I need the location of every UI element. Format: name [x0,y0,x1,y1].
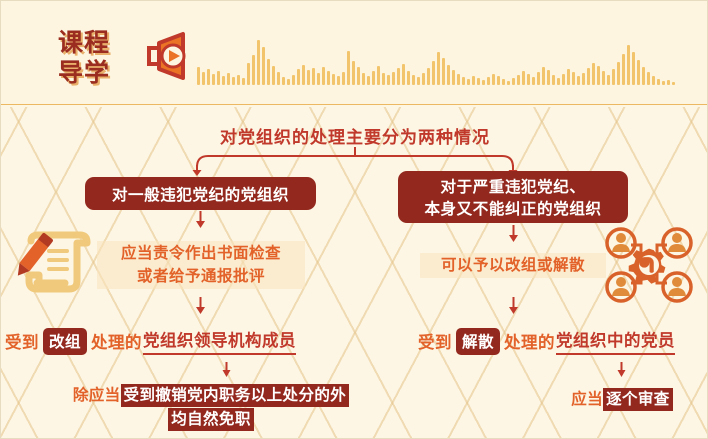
waveform-bar [632,52,635,85]
conclusion-general-prefix: 除应当 [73,386,121,404]
subject-prefix-serious: 受到 [418,329,452,353]
header-banner: 课程 导学 课程 导学 [1,1,708,105]
conclusion-general-highlight-1: 受到撤销党内职务以上处分的外 [121,384,350,407]
waveform-bar [462,77,465,85]
waveform-bar [622,54,625,85]
waveform-bar [402,64,405,85]
waveform-bar [407,71,410,85]
waveform-bar [572,72,575,85]
waveform-bar [197,67,200,85]
waveform-bar [322,67,325,85]
category-box-serious-line-1: 对于严重违犯党纪、 [441,176,586,198]
waveform-bar [507,81,510,85]
waveform-bar [252,55,255,85]
waveform-bar [392,72,395,85]
waveform-bar [372,71,375,85]
team-gear-reorganize-icon [601,223,697,305]
waveform-bar [602,71,605,85]
waveform-bar [257,40,260,85]
statement-general-line-2: 或者给予通报批评 [101,265,301,288]
waveform-bar [627,45,630,85]
waveform-bar [362,73,365,85]
waveform-bar [672,82,675,85]
subject-line-general: 受到 改组 处理的 党组织领导机构成员 [5,328,296,354]
conclusion-general: 除应当受到撤销党内职务以上处分的外 均自然免职 [71,383,351,431]
waveform-bar [617,62,620,85]
waveform-bar [227,73,230,85]
waveform-bar [447,65,450,85]
arrow-subject-to-conclusion-left [221,362,232,380]
waveform-bar [592,63,595,85]
header-divider [1,104,708,105]
category-box-general[interactable]: 对一般违犯党纪的党组织 [85,177,316,210]
category-box-serious-line-2: 本身又不能纠正的党组织 [424,198,601,220]
statement-serious-line-1: 可以予以改组或解散 [424,254,602,277]
logo-line-1: 课程 [58,29,136,57]
conclusion-general-line-2: 均自然免职 [71,407,351,431]
waveform-bar [597,66,600,85]
waveform-bar [637,60,640,85]
waveform-bar [222,76,225,85]
waveform-bar [502,79,505,85]
waveform-bar [247,63,250,85]
waveform-bar [367,76,370,85]
waveform-bar [652,76,655,85]
waveform-bar [397,68,400,85]
waveform-bar [512,78,515,85]
waveform-bar [302,65,305,85]
waveform-bar [292,75,295,85]
waveform-bar [427,68,430,85]
waveform-bar [582,73,585,85]
subject-badge-reorganize[interactable]: 改组 [43,328,87,355]
waveform-bar [492,74,495,85]
waveform-bar [527,74,530,85]
waveform-bar [442,58,445,85]
waveform-bar [567,69,570,85]
waveform-bar [332,74,335,85]
waveform-bar [472,76,475,85]
waveform-bar [552,75,555,85]
subject-line-serious: 受到 解散 处理的 党组织中的党员 [418,328,675,354]
course-guide-logo: 课程 导学 课程 导学 [58,29,136,91]
waveform-bar [667,80,670,85]
subject-target-general: 党组织领导机构成员 [143,327,296,355]
logo-line-2: 导学 [58,59,136,87]
waveform-bar [237,75,240,85]
waveform-bar [347,51,350,85]
waveform-bar [387,75,390,85]
waveform-bar [657,79,660,85]
subject-prefix-general: 受到 [5,329,39,353]
statement-serious: 可以予以改组或解散 [420,253,606,278]
waveform-bar [242,78,245,85]
waveform-bar [522,71,525,85]
waveform-bar [357,67,360,85]
waveform-bar [562,74,565,85]
waveform-bar [577,76,580,85]
waveform-bar [212,74,215,85]
conclusion-general-line-1: 除应当受到撤销党内职务以上处分的外 [71,383,351,407]
arrow-statement-to-subject-left [195,297,206,315]
waveform-bar [532,77,535,85]
speaker-megaphone-icon [143,31,195,81]
waveform-bar [412,75,415,85]
waveform-bar [477,78,480,85]
subject-badge-dissolve[interactable]: 解散 [456,328,500,355]
waveform-bar [337,76,340,85]
waveform-bar [307,70,310,85]
waveform-bar [557,78,560,85]
category-box-serious[interactable]: 对于严重违犯党纪、 本身又不能纠正的党组织 [398,171,628,223]
waveform-bar [437,52,440,85]
statement-general-line-1: 应当责令作出书面检查 [101,242,301,265]
waveform-bar [217,71,220,85]
waveform-bar [537,72,540,85]
conclusion-serious-prefix: 应当 [571,390,603,408]
subject-middle-general: 处理的 [91,329,142,353]
waveform-bar [612,69,615,85]
waveform-bar [542,67,545,85]
waveform-bar [452,70,455,85]
waveform-bar [422,73,425,85]
conclusion-serious-highlight: 逐个审查 [603,388,673,411]
waveform-bar [327,71,330,85]
waveform-bar [487,77,490,85]
waveform-bar [417,77,420,85]
waveform-bar [297,69,300,85]
waveform-bar [317,73,320,85]
arrow-statement-to-subject-right [508,297,519,315]
arrow-box-to-statement-left [195,211,206,229]
arrow-subject-to-conclusion-right [616,362,627,380]
waveform-bar [457,74,460,85]
audio-waveform [197,23,667,85]
scroll-and-pencil-icon [7,223,93,303]
waveform-bar [647,72,650,85]
page-title: 对党组织的处理主要分为两种情况 [1,123,708,148]
waveform-bar [377,66,380,85]
waveform-bar [312,68,315,85]
waveform-bar [262,47,265,85]
waveform-bar [232,77,235,85]
waveform-bar [517,75,520,85]
infographic-page: 课程 导学 课程 导学 对党组织的处理主要分为两种情况 [0,0,708,439]
statement-general: 应当责令作出书面检查 或者给予通报批评 [97,241,305,289]
waveform-bar [587,68,590,85]
waveform-bar [642,67,645,85]
waveform-bar [202,72,205,85]
subject-middle-serious: 处理的 [504,329,555,353]
waveform-bar [547,70,550,85]
arrow-box-to-statement-right [508,225,519,243]
waveform-bar [382,73,385,85]
waveform-bar [342,72,345,85]
waveform-bar [497,76,500,85]
waveform-bar [207,69,210,85]
waveform-bar [272,66,275,85]
conclusion-serious: 应当逐个审查 [541,387,703,409]
waveform-bar [267,59,270,85]
waveform-bar [467,79,470,85]
waveform-bar [287,79,290,85]
waveform-bar [277,72,280,85]
waveform-bar [352,61,355,85]
subject-target-serious: 党组织中的党员 [556,327,675,355]
waveform-bar [607,75,610,85]
conclusion-general-highlight-2: 均自然免职 [168,408,254,431]
waveform-bar [432,61,435,85]
waveform-bar [482,80,485,85]
waveform-bar [662,81,665,85]
waveform-bar [282,77,285,85]
